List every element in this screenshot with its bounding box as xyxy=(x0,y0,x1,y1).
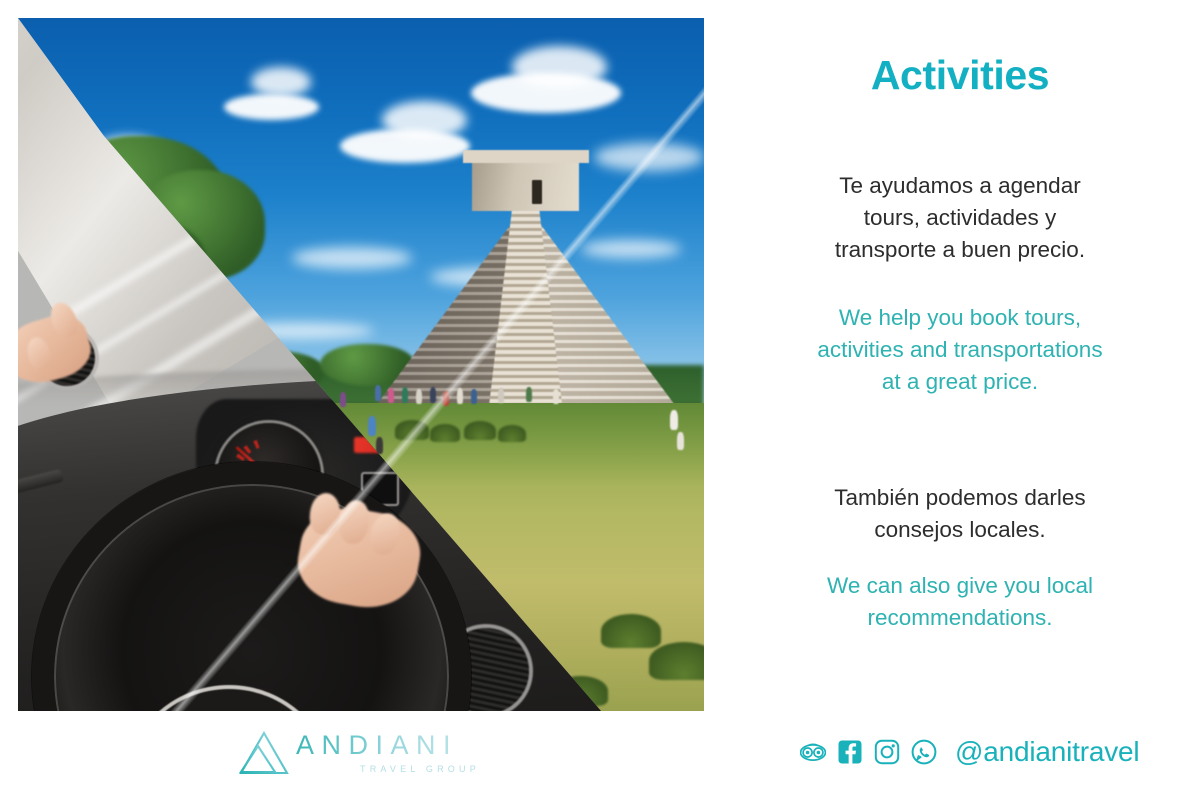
tourist xyxy=(526,387,532,402)
spanish-paragraph-2: También podemos darles consejos locales. xyxy=(740,482,1180,546)
text-line: Te ayudamos a agendar xyxy=(740,170,1180,202)
pyramid-temple xyxy=(472,160,579,211)
agave-plant xyxy=(498,425,526,442)
text-line: at a great price. xyxy=(740,366,1180,398)
tourist xyxy=(340,392,346,407)
cloud xyxy=(382,101,467,139)
logo-tagline: TRAVEL GROUP xyxy=(360,764,480,774)
tourist xyxy=(471,389,477,404)
cloud xyxy=(251,67,311,97)
agave-plant xyxy=(601,614,661,648)
hero-photo xyxy=(18,18,704,711)
spanish-paragraph-1: Te ayudamos a agendar tours, actividades… xyxy=(740,170,1180,266)
english-paragraph-1: We help you book tours, activities and t… xyxy=(740,302,1180,398)
facebook-icon[interactable] xyxy=(837,739,863,765)
instagram-icon[interactable] xyxy=(874,739,900,765)
cloud xyxy=(224,94,319,120)
logo-wordmark: ANDIANI xyxy=(296,730,458,761)
temple-doorway xyxy=(532,180,542,205)
tourist xyxy=(402,387,408,403)
cloud xyxy=(512,46,607,88)
tourist xyxy=(375,385,381,401)
triangle-logo-icon xyxy=(238,728,290,776)
tourist xyxy=(677,432,684,450)
text-line: recommendations. xyxy=(740,602,1180,634)
chichen-itza-pyramid xyxy=(368,160,684,416)
agave-plant xyxy=(395,420,429,440)
text-line: We help you book tours, xyxy=(740,302,1180,334)
brand-logo: ANDIANI TRAVEL GROUP xyxy=(238,726,488,784)
social-bar: @andianitravel xyxy=(800,730,1139,774)
tripadvisor-icon[interactable] xyxy=(800,739,826,765)
tourist xyxy=(368,416,376,436)
text-line: We can also give you local xyxy=(740,570,1180,602)
agave-plant xyxy=(464,421,496,440)
agave-plant xyxy=(430,424,460,442)
text-line: consejos locales. xyxy=(740,514,1180,546)
tourist xyxy=(553,389,559,404)
tourist xyxy=(416,389,422,404)
text-line: transporte a buen precio. xyxy=(740,234,1180,266)
agave-plant xyxy=(649,642,704,680)
whatsapp-icon[interactable] xyxy=(911,739,937,765)
tourist xyxy=(443,391,449,406)
page-title: Activities xyxy=(740,52,1180,99)
tourist xyxy=(670,410,678,430)
text-line: activities and transportations xyxy=(740,334,1180,366)
text-line: tours, actividades y xyxy=(740,202,1180,234)
text-line: También podemos darles xyxy=(740,482,1180,514)
english-paragraph-2: We can also give you local recommendatio… xyxy=(740,570,1180,634)
social-handle[interactable]: @andianitravel xyxy=(955,736,1139,768)
tourist xyxy=(376,437,383,454)
tourist xyxy=(457,388,463,404)
slide-root: Activities Te ayudamos a agendar tours, … xyxy=(0,0,1200,797)
tourist xyxy=(430,387,436,403)
tourist xyxy=(498,388,504,403)
pyramid-temple-roof xyxy=(463,150,589,163)
text-column: Activities Te ayudamos a agendar tours, … xyxy=(740,0,1180,797)
tourist xyxy=(388,388,394,403)
